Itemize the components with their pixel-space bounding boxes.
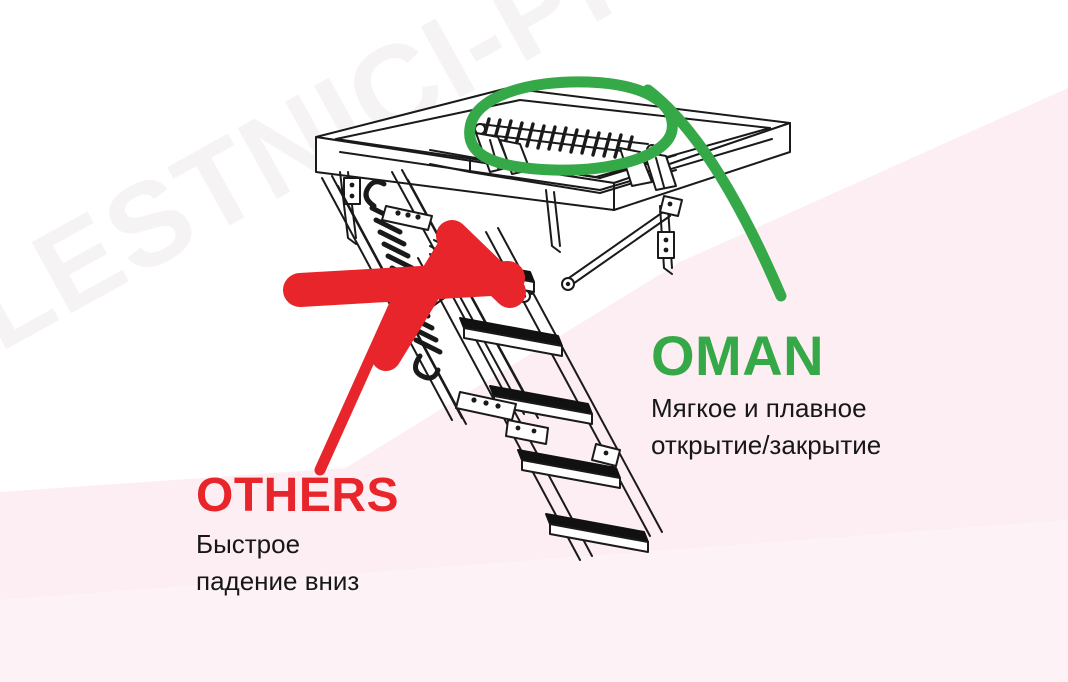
oman-description-line-1: Мягкое и плавное	[651, 390, 881, 427]
infographic-canvas: LESTNICI-PROSTO.RU	[0, 0, 1068, 682]
others-description-line-2: падение вниз	[196, 563, 399, 600]
others-description-line-1: Быстрое	[196, 526, 399, 563]
oman-description-line-2: открытие/закрытие	[651, 427, 881, 464]
others-headline: OTHERS	[196, 472, 399, 520]
callout-others: OTHERS Быстрое падение вниз	[196, 472, 399, 600]
oman-headline: OMAN	[651, 328, 881, 384]
red-annotation-layer	[0, 0, 1068, 682]
callout-oman: OMAN Мягкое и плавное открытие/закрытие	[651, 328, 881, 464]
red-cross-arrow	[300, 236, 510, 470]
